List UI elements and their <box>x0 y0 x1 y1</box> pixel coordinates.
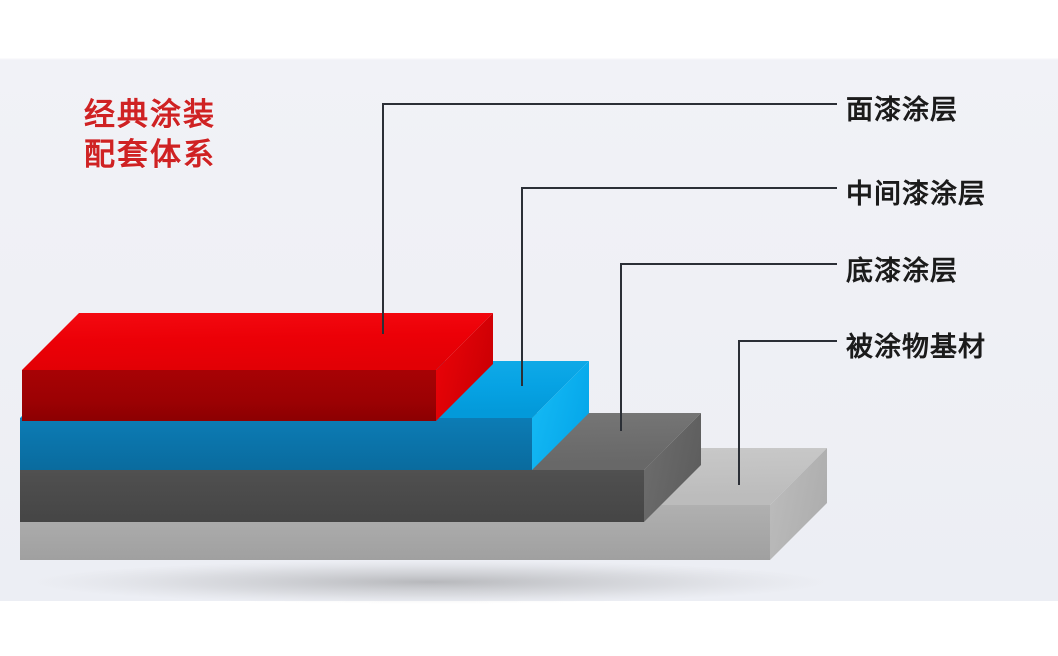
callout-primer: 底漆涂层 <box>846 249 958 288</box>
callout-substrate: 被涂物基材 <box>846 325 986 364</box>
layer-primer-front-face <box>20 470 644 522</box>
leader-line-topcoat <box>383 104 836 333</box>
diagram-canvas: 经典涂装 配套体系 <box>0 0 1058 656</box>
layer-topcoat <box>22 313 493 421</box>
stack-shadow <box>30 560 830 604</box>
layer-topcoat-top-face <box>22 313 493 370</box>
leader-line-intermediate <box>522 188 836 385</box>
leader-line-primer <box>621 264 836 430</box>
callout-topcoat: 面漆涂层 <box>846 88 958 127</box>
callout-intermediate: 中间漆涂层 <box>846 172 986 211</box>
layer-topcoat-front-face <box>22 370 436 421</box>
layer-intermediate-front-face <box>20 418 532 470</box>
